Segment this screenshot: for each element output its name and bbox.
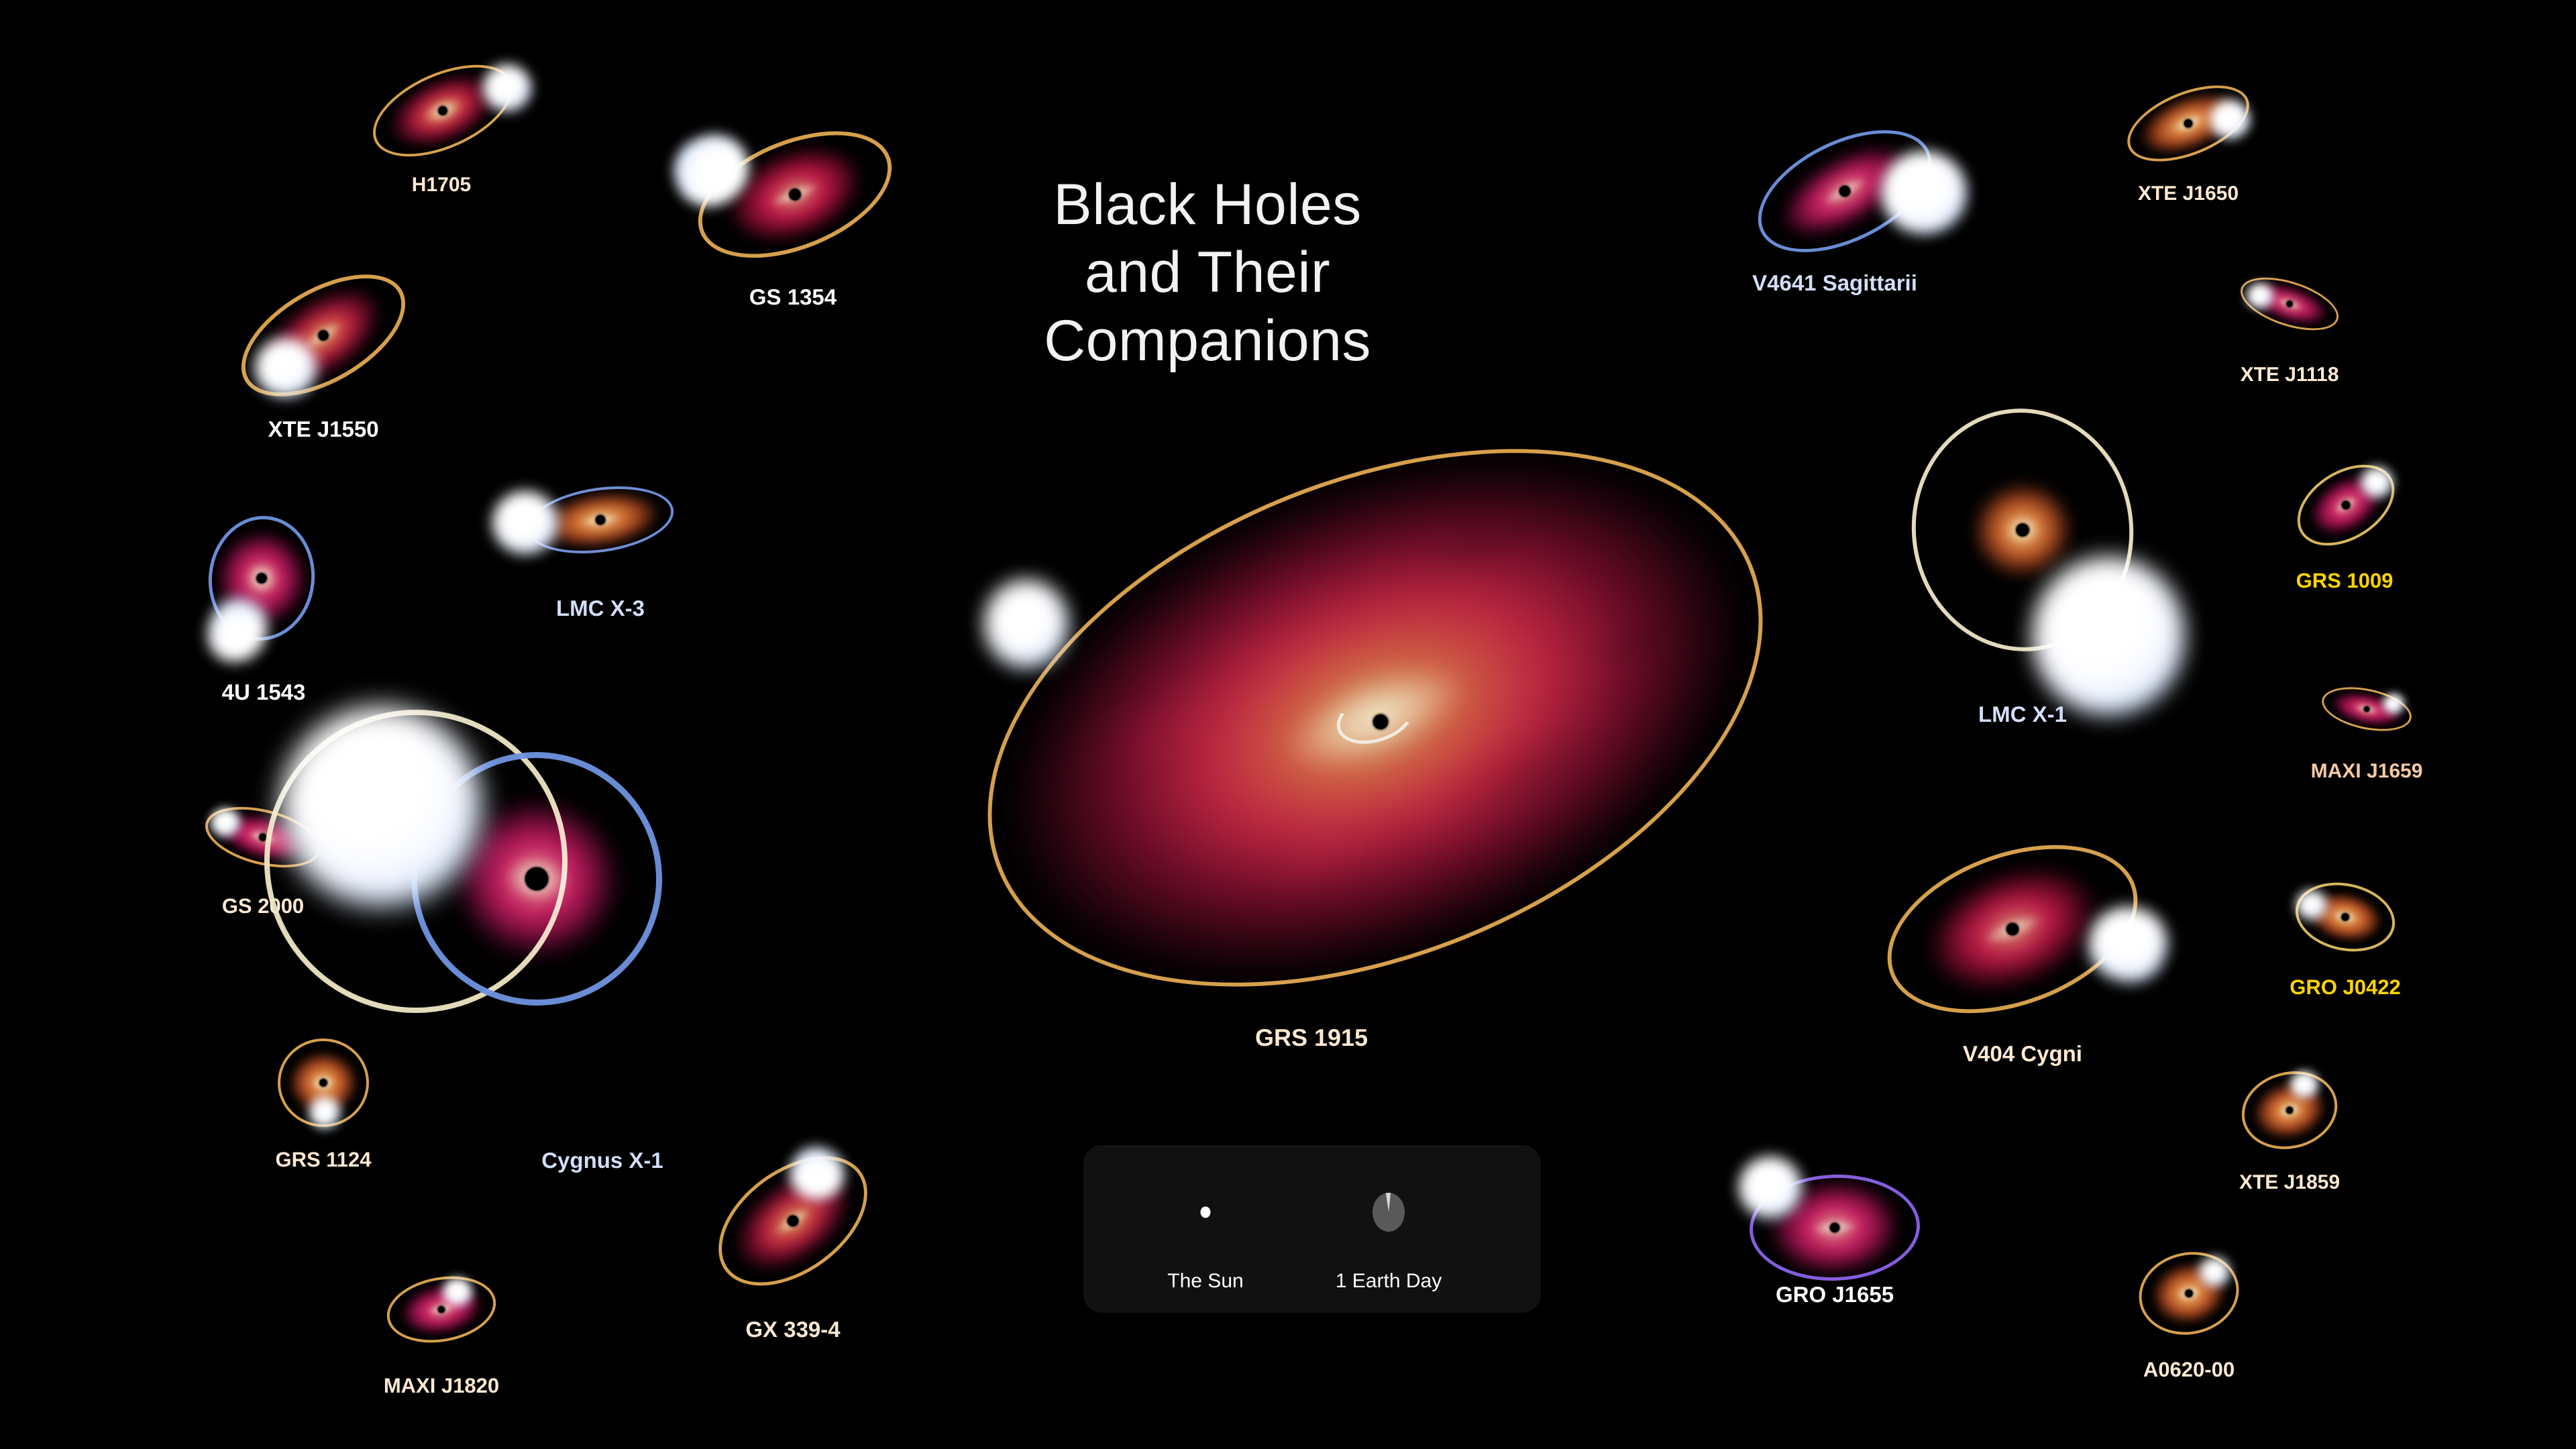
black-hole-gs-1354 <box>790 189 801 201</box>
black-hole-lmc-x-1 <box>2017 524 2029 537</box>
black-hole-lmc-x-3 <box>596 515 605 525</box>
system-label-v404-cygni: V404 Cygni <box>1963 1041 2082 1067</box>
companion-star-xte-j1118 <box>2247 283 2273 309</box>
black-hole-h1705 <box>439 107 447 115</box>
black-hole-maxi-j1820 <box>438 1306 445 1313</box>
legend-item-earth-day: 1 Earth Day <box>1281 1145 1496 1313</box>
page-title: Black Holes and Their Companions <box>953 171 1462 375</box>
legend-label-earth-day: 1 Earth Day <box>1281 1270 1496 1293</box>
companion-star-grs-1915 <box>984 580 1069 668</box>
system-label-xte-j1118: XTE J1118 <box>2241 364 2339 386</box>
system-label-gx-339-4: GX 339-4 <box>745 1317 840 1342</box>
earth-day-clock-icon <box>1373 1193 1405 1232</box>
system-label-v4641-sagittarii: V4641 Sagittarii <box>1752 270 1917 296</box>
black-hole-gx-339-4 <box>788 1216 798 1226</box>
system-label-xte-j1650: XTE J1650 <box>2138 182 2239 205</box>
black-hole-v404-cygni <box>2006 923 2019 935</box>
black-hole-maxi-j1659 <box>2364 706 2369 712</box>
companion-star-gro-j1655 <box>1739 1157 1802 1218</box>
system-label-h1705: H1705 <box>412 174 471 197</box>
black-hole-a0620-00 <box>2186 1290 2193 1297</box>
companion-star-h1705 <box>483 64 531 111</box>
companion-star-maxi-j1659 <box>2383 694 2404 714</box>
black-hole-v4641-sagittarii <box>1839 186 1850 197</box>
system-label-grs-1124: GRS 1124 <box>275 1148 371 1172</box>
black-hole-xte-j1550 <box>319 331 329 341</box>
black-hole-gro-j0422 <box>2342 914 2349 921</box>
black-hole-xte-j1650 <box>2184 119 2192 127</box>
legend-label-sun: The Sun <box>1105 1270 1306 1293</box>
companion-star-grs-1009 <box>2361 467 2393 498</box>
sky-canvas: Black Holes and Their Companions H1705GS… <box>0 0 2576 1449</box>
black-hole-cygnus-x-1 <box>525 867 548 890</box>
companion-star-gro-j0422 <box>2296 890 2327 920</box>
companion-star-gs-2000 <box>211 808 240 837</box>
black-hole-grs-1124 <box>320 1079 327 1087</box>
black-hole-gro-j1655 <box>1830 1223 1839 1232</box>
companion-star-v4641-sagittarii <box>1881 151 1967 234</box>
scale-legend: The Sun 1 Earth Day <box>1083 1145 1541 1313</box>
companion-star-cygnus-x-1 <box>280 706 482 906</box>
system-label-grs-1009: GRS 1009 <box>2296 569 2394 593</box>
companion-star-xte-j1859 <box>2290 1071 2318 1098</box>
companion-star-xte-j1650 <box>2210 100 2250 139</box>
system-label-grs-1915: GRS 1915 <box>1255 1024 1368 1052</box>
companion-star-maxi-j1820 <box>443 1278 472 1306</box>
companion-star-a0620-00 <box>2199 1257 2230 1287</box>
system-label-4u-1543: 4U 1543 <box>222 680 306 705</box>
system-label-gs-1354: GS 1354 <box>749 284 837 310</box>
companion-star-lmc-x-3 <box>492 491 558 554</box>
companion-star-grs-1124 <box>309 1096 340 1128</box>
system-label-lmc-x-3: LMC X-3 <box>556 596 645 621</box>
black-hole-xte-j1859 <box>2286 1107 2293 1114</box>
system-label-lmc-x-1: LMC X-1 <box>1978 702 2067 727</box>
system-label-maxi-j1820: MAXI J1820 <box>384 1374 499 1398</box>
companion-star-xte-j1550 <box>255 338 317 397</box>
system-label-maxi-j1659: MAXI J1659 <box>2311 760 2423 783</box>
system-label-gro-j0422: GRO J0422 <box>2290 975 2400 1000</box>
black-hole-4u-1543 <box>257 574 267 584</box>
companion-star-lmc-x-1 <box>2032 557 2185 715</box>
system-label-xte-j1859: XTE J1859 <box>2239 1171 2340 1194</box>
legend-item-sun: The Sun <box>1105 1145 1306 1313</box>
black-hole-grs-1009 <box>2342 501 2350 509</box>
system-label-gro-j1655: GRO J1655 <box>1776 1282 1894 1307</box>
system-label-a0620-00: A0620-00 <box>2143 1358 2235 1382</box>
black-hole-grs-1915 <box>1373 714 1388 729</box>
system-label-xte-j1550: XTE J1550 <box>268 417 378 442</box>
system-label-cygnus-x-1: Cygnus X-1 <box>541 1148 663 1173</box>
sun-dot-icon <box>1201 1207 1211 1218</box>
black-hole-xte-j1118 <box>2287 301 2293 307</box>
